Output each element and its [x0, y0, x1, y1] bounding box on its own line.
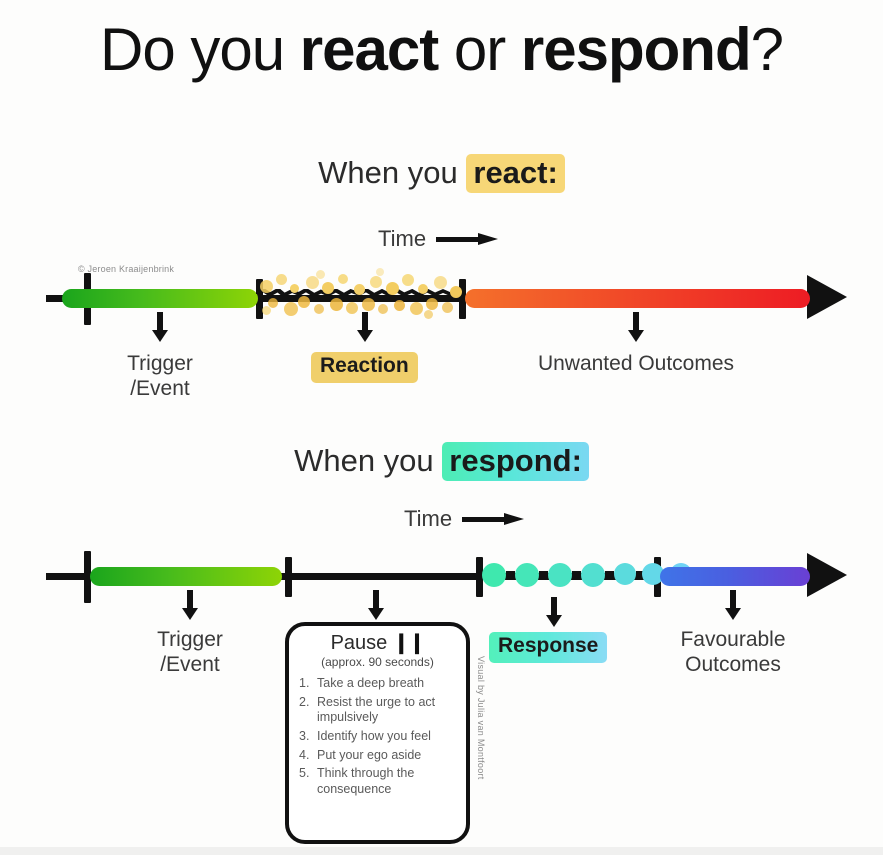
list-item: 4. Put your ego aside	[299, 748, 456, 764]
react-heading-prefix: When you	[318, 155, 466, 190]
step-text: Resist the urge to act impulsively	[317, 695, 456, 726]
react-reaction-scatter	[256, 262, 462, 332]
react-trigger-label-line1: Trigger	[127, 352, 193, 375]
step-text: Take a deep breath	[317, 676, 456, 692]
react-section-heading: When you react:	[0, 155, 883, 191]
respond-outcome-label-line1: Favourable	[680, 628, 785, 651]
title-part-5: ?	[751, 16, 783, 83]
respond-section-heading: When you respond:	[0, 443, 883, 479]
step-number: 5.	[299, 766, 312, 797]
step-number: 2.	[299, 695, 312, 726]
respond-trigger-label: Trigger /Event	[110, 628, 270, 678]
step-text: Think through the consequence	[317, 766, 456, 797]
step-number: 4.	[299, 748, 312, 764]
list-item: 1. Take a deep breath	[299, 676, 456, 692]
arrow-right-icon	[462, 513, 524, 525]
visual-credit: Visual by Julia van Montfoort	[476, 656, 486, 780]
respond-response-dots	[482, 560, 658, 592]
list-item: 5. Think through the consequence	[299, 766, 456, 797]
respond-trigger-bar	[90, 567, 282, 586]
react-axis-arrowhead	[807, 275, 847, 319]
react-outcome-label: Unwanted Outcomes	[516, 352, 756, 377]
page-title: Do you react or respond?	[0, 18, 883, 81]
respond-trigger-label-line2: /Event	[160, 653, 220, 676]
react-heading-highlight: react:	[466, 154, 564, 193]
react-time-indicator: Time	[378, 226, 498, 252]
pause-icon: ❙❙	[393, 632, 425, 654]
pause-steps-list: 1. Take a deep breath 2. Resist the urge…	[299, 676, 456, 797]
footer-bar	[0, 847, 883, 855]
step-text: Identify how you feel	[317, 729, 456, 745]
title-part-3: or	[438, 16, 521, 83]
respond-axis-arrowhead	[807, 553, 847, 597]
react-time-label: Time	[378, 226, 426, 252]
react-trigger-label-line2: /Event	[130, 377, 190, 400]
step-text: Put your ego aside	[317, 748, 456, 764]
respond-time-indicator: Time	[404, 506, 524, 532]
respond-outcome-bar	[660, 567, 810, 586]
respond-heading-prefix: When you	[294, 443, 442, 478]
pause-instructions-box: Pause ❙❙ (approx. 90 seconds) 1. Take a …	[285, 622, 470, 844]
react-outcome-bar	[465, 289, 810, 308]
react-trigger-label: Trigger /Event	[80, 352, 240, 402]
respond-time-label: Time	[404, 506, 452, 532]
title-part-1: Do you	[100, 16, 300, 83]
react-trigger-bar	[62, 289, 258, 308]
arrow-right-icon	[436, 233, 498, 245]
step-number: 3.	[299, 729, 312, 745]
title-part-react: react	[300, 16, 438, 83]
pause-box-title: Pause ❙❙	[299, 633, 456, 654]
react-reaction-label: Reaction	[311, 352, 418, 383]
respond-trigger-label-line1: Trigger	[157, 628, 223, 651]
title-part-respond: respond	[521, 16, 751, 83]
copyright-notice: © Jeroen Kraaijenbrink	[78, 264, 174, 274]
respond-axis-tick-1	[285, 557, 292, 597]
list-item: 2. Resist the urge to act impulsively	[299, 695, 456, 726]
step-number: 1.	[299, 676, 312, 692]
infographic-canvas: Do you react or respond? When you react:…	[0, 0, 883, 855]
respond-outcome-label-line2: Outcomes	[685, 653, 781, 676]
respond-heading-highlight: respond:	[442, 442, 589, 481]
respond-response-label: Response	[489, 632, 607, 663]
pause-box-subtitle: (approx. 90 seconds)	[299, 655, 456, 669]
list-item: 3. Identify how you feel	[299, 729, 456, 745]
respond-outcome-label: Favourable Outcomes	[653, 628, 813, 678]
react-timeline-axis	[42, 268, 852, 328]
pause-box-title-text: Pause	[331, 632, 388, 654]
